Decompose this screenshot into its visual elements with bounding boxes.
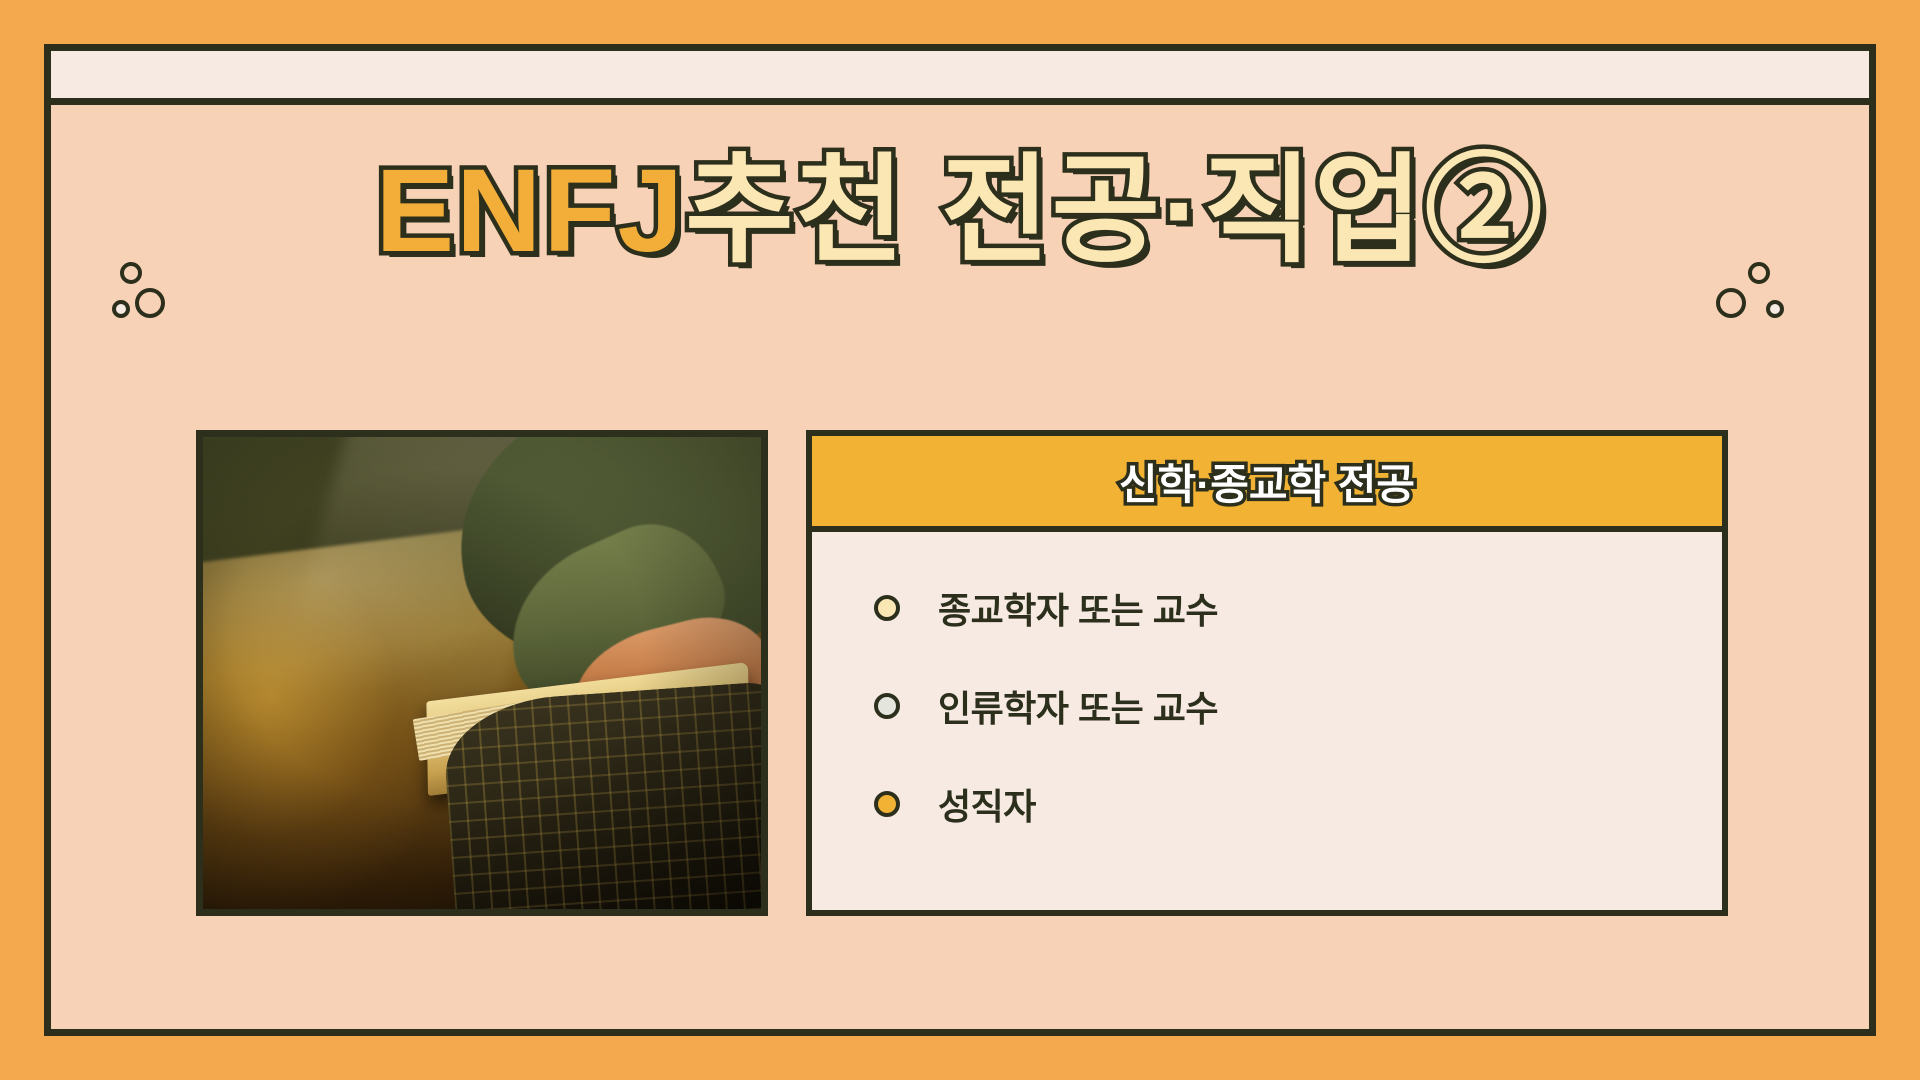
card-body: 종교학자 또는 교수 인류학자 또는 교수 성직자 [812, 532, 1722, 910]
bubble-decor-icon [112, 300, 130, 318]
title-ko: 추천 전공·직업② [685, 145, 1544, 277]
list-item-label: 인류학자 또는 교수 [938, 680, 1218, 732]
slide-root: ENFJ추천 전공·직업② 신학·종교학 전공 [0, 0, 1920, 1080]
card-header-label: 신학·종교학 전공 [1119, 451, 1415, 512]
bubble-decor-icon [135, 288, 165, 318]
card-header: 신학·종교학 전공 [812, 436, 1722, 532]
bullet-icon [874, 693, 900, 719]
bullet-icon [874, 791, 900, 817]
bible-reading-photo [196, 430, 768, 916]
major-info-card: 신학·종교학 전공 종교학자 또는 교수 인류학자 또는 교수 성직자 [806, 430, 1728, 916]
photo-surface [203, 437, 761, 909]
list-item: 성직자 [874, 774, 1722, 834]
bubble-decor-icon [1716, 288, 1746, 318]
list-item: 인류학자 또는 교수 [874, 676, 1722, 736]
title-en: ENFJ [375, 145, 685, 277]
list-item-label: 종교학자 또는 교수 [938, 582, 1218, 634]
top-header-bar [51, 51, 1869, 105]
bubble-decor-icon [1766, 300, 1784, 318]
list-item-label: 성직자 [938, 778, 1036, 830]
bullet-icon [874, 595, 900, 621]
list-item: 종교학자 또는 교수 [874, 578, 1722, 638]
page-title: ENFJ추천 전공·직업② [0, 150, 1920, 274]
body-row: 신학·종교학 전공 종교학자 또는 교수 인류학자 또는 교수 성직자 [0, 420, 1920, 940]
photo-vignette [203, 437, 761, 909]
